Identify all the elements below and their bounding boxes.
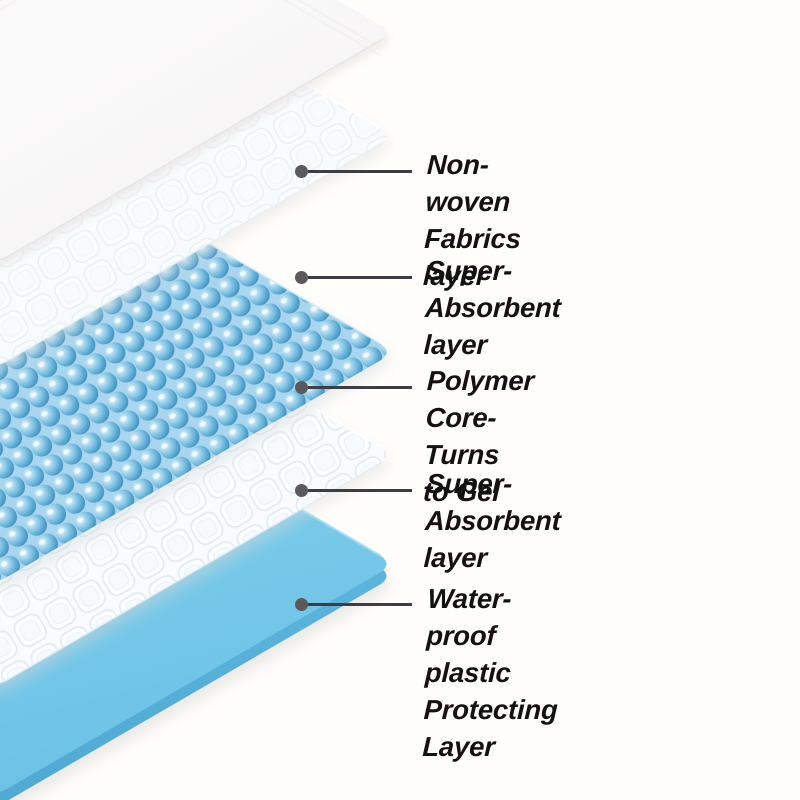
callout-label-super-absorbent-top: Super-Absorbent layer (423, 252, 563, 363)
callout-label-waterproof-plastic: Water-proof plastic Protecting Layer (422, 580, 562, 765)
callout-leader-line (308, 170, 412, 173)
callout-leader-line (308, 603, 412, 606)
callout-dot-icon (295, 271, 308, 284)
callout-leader-line (308, 276, 412, 279)
callout-dot-icon (295, 484, 308, 497)
callout-label-super-absorbent-bottom: Super-Absorbent layer (423, 465, 563, 576)
callout-leader-line (308, 386, 412, 389)
callout-dot-icon (295, 381, 308, 394)
callout-leader-line (308, 489, 412, 492)
layer-diagram-figure: Non-woven Fabrics layer Super-Absorbent … (0, 0, 800, 800)
callout-dot-icon (295, 165, 308, 178)
exploded-layers-illustration (0, 0, 800, 800)
callout-dot-icon (295, 598, 308, 611)
